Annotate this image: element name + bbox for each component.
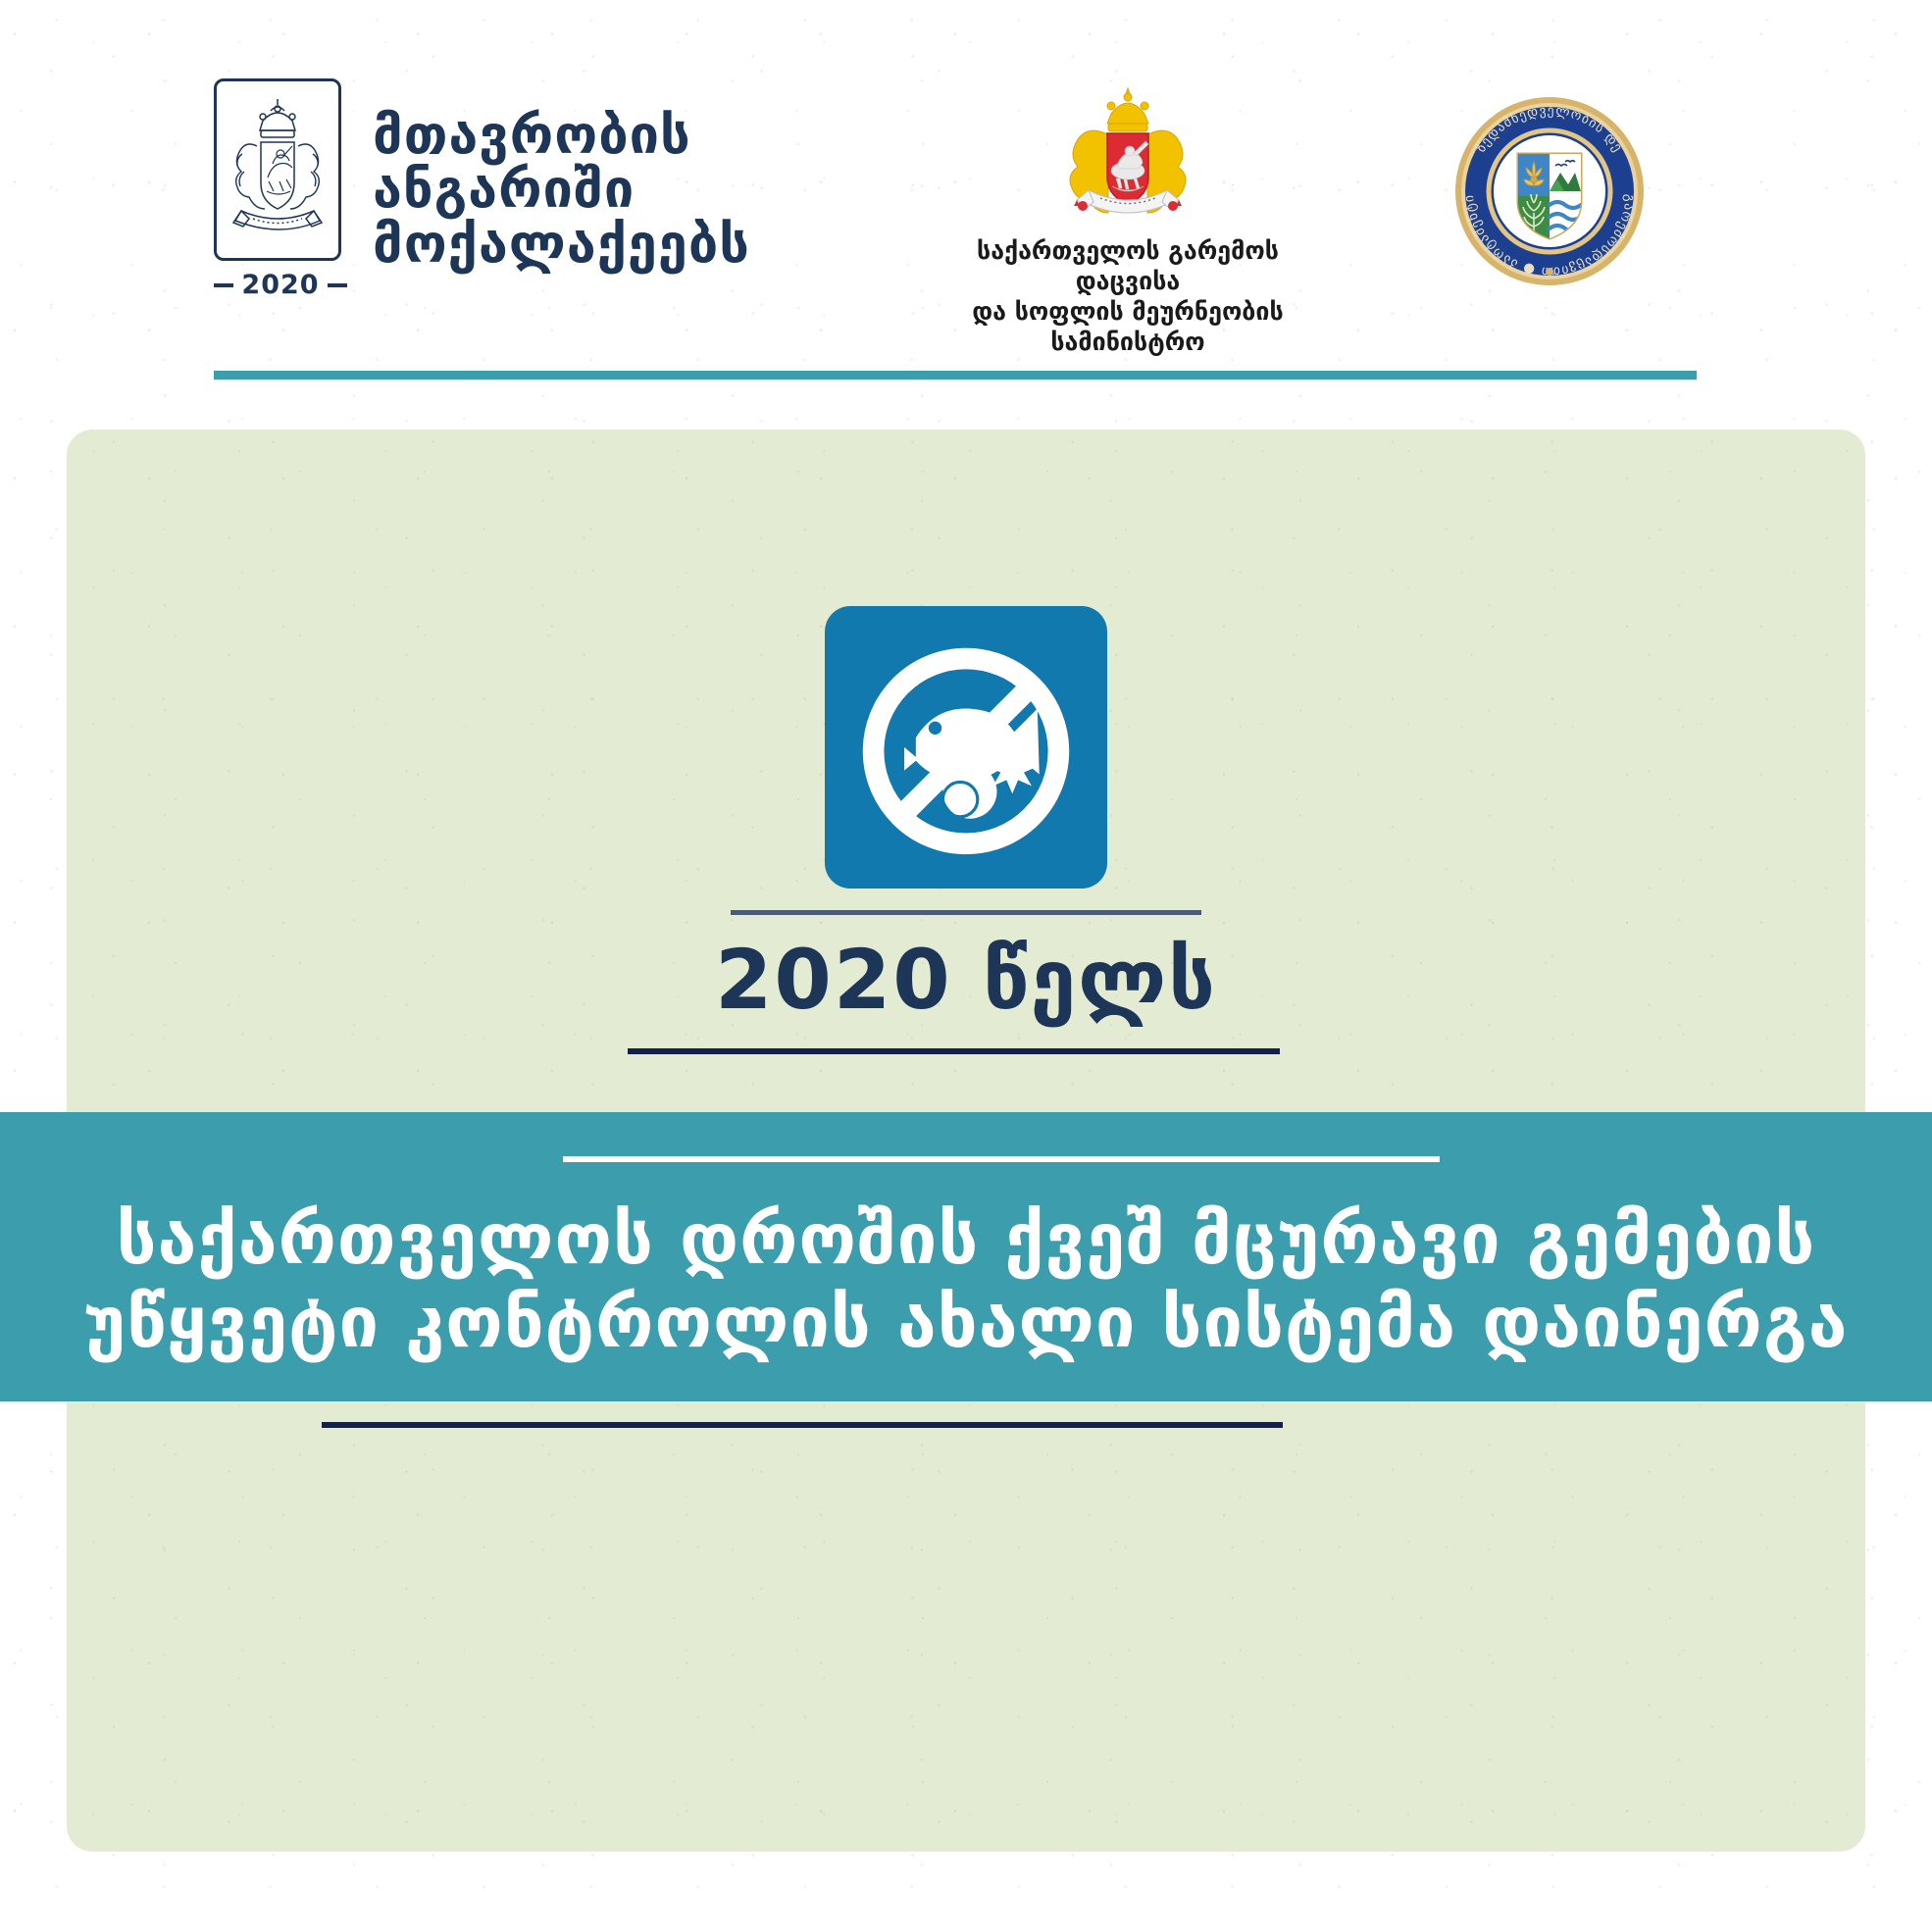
logo-government-wordmark: მთავრობის ანგარიში მოქალაქეებს: [373, 108, 750, 270]
headline-text: საქართველოს დროშის ქვეშ მცურავი გემების …: [0, 1197, 1932, 1364]
headline-rule-above: [563, 1156, 1440, 1162]
logo-government-line-3: მოქალაქეებს: [373, 217, 750, 271]
header-divider: [214, 371, 1697, 380]
page-header: 2020 მთავრობის ანგარიში მოქალაქეებს: [0, 0, 1932, 353]
headline-rule-below: [322, 1422, 1283, 1428]
logo-ministry-caption: საქართველოს გარემოს დაცვისა და სოფლის მე…: [941, 235, 1314, 357]
year-rule-right: [328, 283, 347, 287]
year-rule-below: [628, 1048, 1280, 1054]
logo-ministry-caption-line-1: საქართველოს გარემოს დაცვისა: [941, 235, 1314, 296]
logo-government-line-2: ანგარიში: [373, 162, 750, 216]
logo-government-mark: 2020: [214, 78, 347, 300]
no-dynamite-fishing-icon: [825, 606, 1107, 889]
logo-government-annual-report: 2020 მთავრობის ანგარიში მოქალაქეებს: [214, 78, 750, 300]
logo-ministry: საქართველოს გარემოს დაცვისა და სოფლის მე…: [941, 84, 1314, 357]
coat-of-arms-outline-icon: [214, 78, 341, 261]
supervision-seal-icon: ზედამხედველობის დე გარემოსდაცვითი ● პარტ…: [1451, 93, 1648, 289]
logo-government-year: 2020: [214, 270, 347, 300]
year-rule-above: [731, 910, 1201, 915]
state-coat-of-arms-icon: [1049, 84, 1206, 222]
year-block: 2020 წელს: [0, 910, 1932, 1054]
logo-environmental-supervision-seal: ზედამხედველობის დე გარემოსდაცვითი ● პარტ…: [1451, 93, 1648, 289]
logo-government-year-label: 2020: [241, 270, 319, 300]
headline-banner: საქართველოს დროშის ქვეშ მცურავი გემების …: [0, 1112, 1932, 1401]
year-rule-left: [214, 283, 233, 287]
logo-government-line-1: მთავრობის: [373, 108, 750, 162]
logo-ministry-caption-line-2: და სოფლის მეურნეობის სამინისტრო: [941, 296, 1314, 357]
year-label: 2020 წელს: [0, 939, 1932, 1021]
